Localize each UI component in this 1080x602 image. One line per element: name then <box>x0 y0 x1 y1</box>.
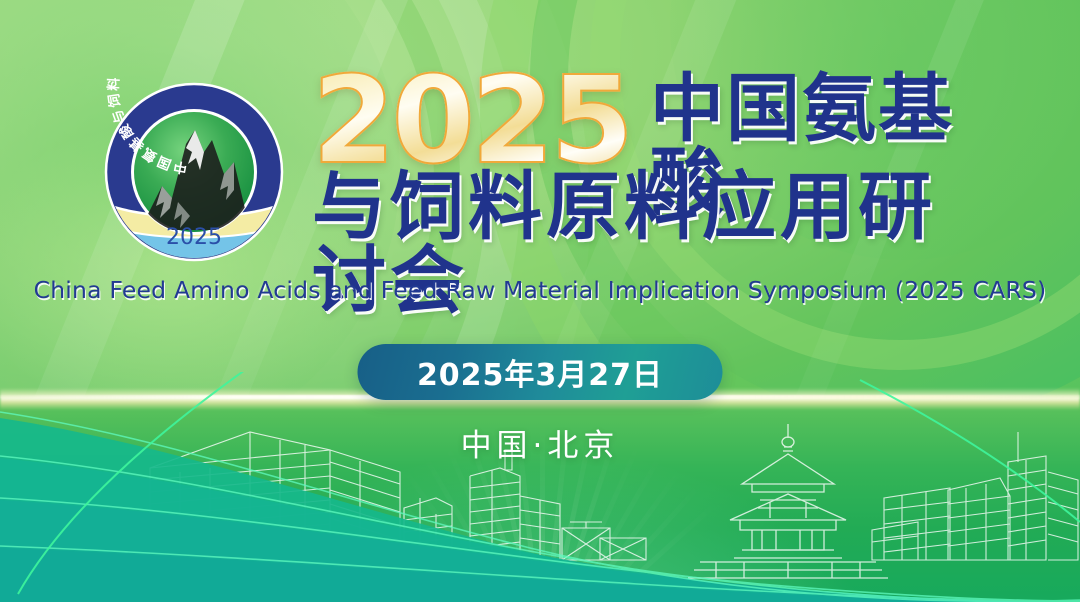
date-pill: 2025年3月27日 <box>358 344 723 400</box>
logo-year: 2025 <box>166 225 222 250</box>
conference-banner: 中国氨基酸与饲料原料应用研讨会 2025 2025 中国氨基酸 与饲料原料应用研… <box>0 0 1080 602</box>
date-text: 2025年3月27日 <box>417 350 663 394</box>
english-subtitle: China Feed Amino Acids and Feed Raw Mate… <box>0 276 1080 304</box>
headline-block: 2025 中国氨基酸 与饲料原料应用研讨会 <box>312 62 1012 262</box>
conference-logo: 中国氨基酸与饲料原料应用研讨会 2025 <box>100 78 288 266</box>
wave-layers <box>0 372 1080 602</box>
location-text: 中国·北京 <box>0 420 1080 465</box>
